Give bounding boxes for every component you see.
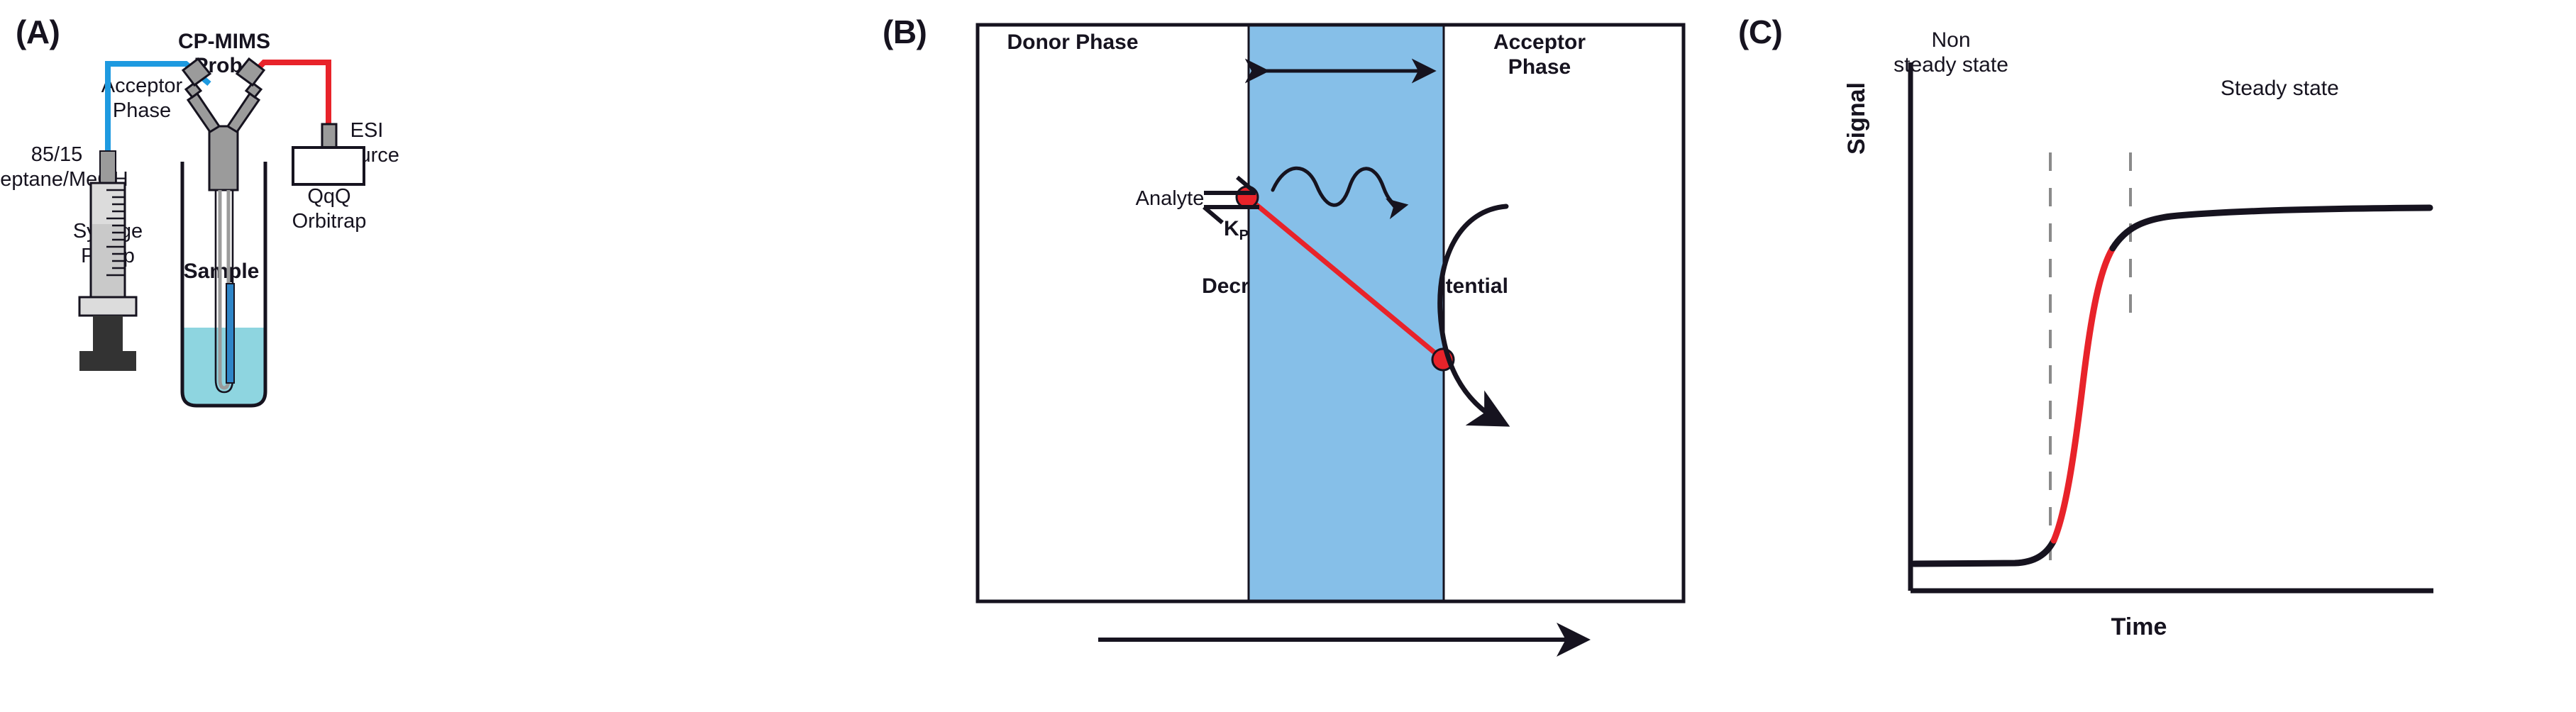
beaker-liquid-sample	[182, 328, 265, 406]
panel-b: (B) Donor Phase Membrane Acceptor Phase …	[873, 0, 1731, 712]
probe-left-arm	[183, 59, 219, 132]
probe-right-arm	[228, 59, 264, 132]
panel-a: (A) CP-MIMS Probe Acceptor Phase 85/15 H…	[0, 0, 873, 712]
panel-a-graphics	[0, 0, 873, 712]
membrane-band	[1249, 25, 1444, 601]
panel-c: (C) Non steady state Steady state Signal…	[1731, 0, 2576, 712]
syringe-plunger-rod	[93, 316, 123, 357]
syringe-flange	[79, 297, 136, 316]
panel-b-graphics	[873, 0, 1731, 712]
figure-root: (A) CP-MIMS Probe Acceptor Phase 85/15 H…	[0, 0, 2576, 712]
signal-curve-steady-segment	[2113, 208, 2430, 248]
syringe-needle-hub	[100, 151, 116, 183]
signal-curve-baseline-segment	[1914, 540, 2054, 564]
ms-instrument-box	[293, 148, 364, 184]
probe-body	[209, 126, 238, 190]
signal-curve-nonsteady-segment	[2054, 248, 2113, 540]
syringe-plunger-thumbpad	[79, 351, 136, 371]
panel-c-graphics	[1731, 0, 2576, 712]
probe-membrane-segment-blue	[226, 284, 234, 383]
acceptor-flow-arc	[1440, 206, 1506, 422]
